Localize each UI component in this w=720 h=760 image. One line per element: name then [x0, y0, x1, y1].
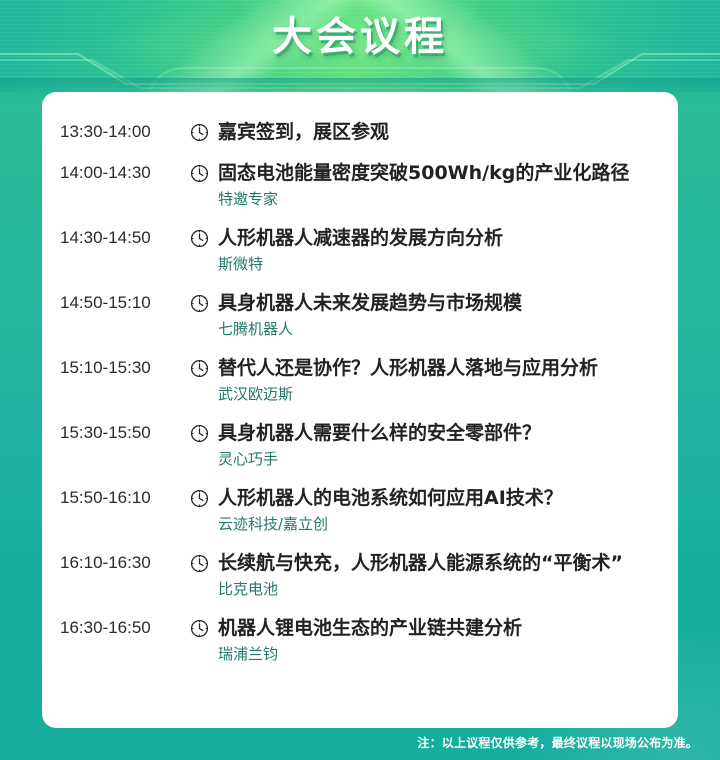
- agenda-row-time: 14:00-14:30: [60, 161, 180, 185]
- agenda-row-speaker: 特邀专家: [218, 188, 660, 210]
- agenda-row-body: 固态电池能量密度突破500Wh/kg的产业化路径特邀专家: [218, 161, 660, 210]
- agenda-row: 13:30-14:00 嘉宾签到，展区参观: [60, 112, 660, 153]
- agenda-row-time: 15:30-15:50: [60, 421, 180, 445]
- clock-icon: [190, 359, 209, 378]
- agenda-row-speaker: 灵心巧手: [218, 448, 660, 470]
- agenda-row-time: 16:30-16:50: [60, 616, 180, 640]
- agenda-poster: 大会议程 13:30-14:00 嘉宾签到，展区参观14:00-14:30 固态…: [0, 0, 720, 760]
- agenda-row-speaker: 云迹科技/嘉立创: [218, 513, 660, 535]
- agenda-row-icon: [180, 161, 218, 183]
- agenda-row-icon: [180, 120, 218, 142]
- agenda-row-title: 固态电池能量密度突破500Wh/kg的产业化路径: [218, 161, 660, 186]
- clock-icon: [190, 229, 209, 248]
- agenda-row-icon: [180, 356, 218, 378]
- agenda-row-icon: [180, 226, 218, 248]
- agenda-card: 13:30-14:00 嘉宾签到，展区参观14:00-14:30 固态电池能量密…: [42, 92, 678, 728]
- agenda-row: 16:30-16:50 机器人锂电池生态的产业链共建分析瑞浦兰钧: [60, 608, 660, 673]
- agenda-row-title: 具身机器人需要什么样的安全零部件？: [218, 421, 660, 446]
- agenda-row: 15:10-15:30 替代人还是协作？人形机器人落地与应用分析武汉欧迈斯: [60, 348, 660, 413]
- agenda-row-time: 15:50-16:10: [60, 486, 180, 510]
- agenda-row-time: 16:10-16:30: [60, 551, 180, 575]
- agenda-row-speaker: 比克电池: [218, 578, 660, 600]
- clock-icon: [190, 123, 209, 142]
- clock-icon: [190, 619, 209, 638]
- agenda-row-body: 人形机器人的电池系统如何应用AI技术？云迹科技/嘉立创: [218, 486, 660, 535]
- agenda-row: 15:50-16:10 人形机器人的电池系统如何应用AI技术？云迹科技/嘉立创: [60, 478, 660, 543]
- clock-icon: [190, 424, 209, 443]
- clock-icon: [190, 554, 209, 573]
- agenda-row-icon: [180, 291, 218, 313]
- agenda-list: 13:30-14:00 嘉宾签到，展区参观14:00-14:30 固态电池能量密…: [60, 112, 660, 673]
- agenda-row-body: 嘉宾签到，展区参观: [218, 120, 660, 145]
- agenda-row-body: 人形机器人减速器的发展方向分析斯微特: [218, 226, 660, 275]
- agenda-row-body: 长续航与快充，人形机器人能源系统的“平衡术”比克电池: [218, 551, 660, 600]
- agenda-row-title: 长续航与快充，人形机器人能源系统的“平衡术”: [218, 551, 660, 576]
- agenda-row-time: 13:30-14:00: [60, 120, 180, 144]
- page-title: 大会议程: [0, 10, 720, 64]
- agenda-row-body: 机器人锂电池生态的产业链共建分析瑞浦兰钧: [218, 616, 660, 665]
- agenda-row-icon: [180, 421, 218, 443]
- agenda-row-time: 15:10-15:30: [60, 356, 180, 380]
- clock-icon: [190, 489, 209, 508]
- agenda-row: 14:30-14:50 人形机器人减速器的发展方向分析斯微特: [60, 218, 660, 283]
- agenda-row-speaker: 斯微特: [218, 253, 660, 275]
- agenda-row-title: 嘉宾签到，展区参观: [218, 120, 660, 145]
- agenda-row-body: 具身机器人未来发展趋势与市场规模七腾机器人: [218, 291, 660, 340]
- agenda-row-title: 人形机器人减速器的发展方向分析: [218, 226, 660, 251]
- agenda-row: 16:10-16:30 长续航与快充，人形机器人能源系统的“平衡术”比克电池: [60, 543, 660, 608]
- agenda-row-icon: [180, 616, 218, 638]
- agenda-row-body: 替代人还是协作？人形机器人落地与应用分析武汉欧迈斯: [218, 356, 660, 405]
- agenda-row-title: 机器人锂电池生态的产业链共建分析: [218, 616, 660, 641]
- agenda-row-time: 14:50-15:10: [60, 291, 180, 315]
- agenda-row-speaker: 七腾机器人: [218, 318, 660, 340]
- agenda-row-body: 具身机器人需要什么样的安全零部件？灵心巧手: [218, 421, 660, 470]
- agenda-row-title: 替代人还是协作？人形机器人落地与应用分析: [218, 356, 660, 381]
- agenda-row-icon: [180, 486, 218, 508]
- agenda-row: 14:50-15:10 具身机器人未来发展趋势与市场规模七腾机器人: [60, 283, 660, 348]
- agenda-row-title: 人形机器人的电池系统如何应用AI技术？: [218, 486, 660, 511]
- agenda-row-title: 具身机器人未来发展趋势与市场规模: [218, 291, 660, 316]
- agenda-row: 15:30-15:50 具身机器人需要什么样的安全零部件？灵心巧手: [60, 413, 660, 478]
- agenda-row-icon: [180, 551, 218, 573]
- agenda-row-speaker: 武汉欧迈斯: [218, 383, 660, 405]
- agenda-row: 14:00-14:30 固态电池能量密度突破500Wh/kg的产业化路径特邀专家: [60, 153, 660, 218]
- clock-icon: [190, 164, 209, 183]
- agenda-row-speaker: 瑞浦兰钧: [218, 643, 660, 665]
- agenda-row-time: 14:30-14:50: [60, 226, 180, 250]
- disclaimer-note: 注：以上议程仅供参考，最终议程以现场公布为准。: [417, 735, 698, 751]
- clock-icon: [190, 294, 209, 313]
